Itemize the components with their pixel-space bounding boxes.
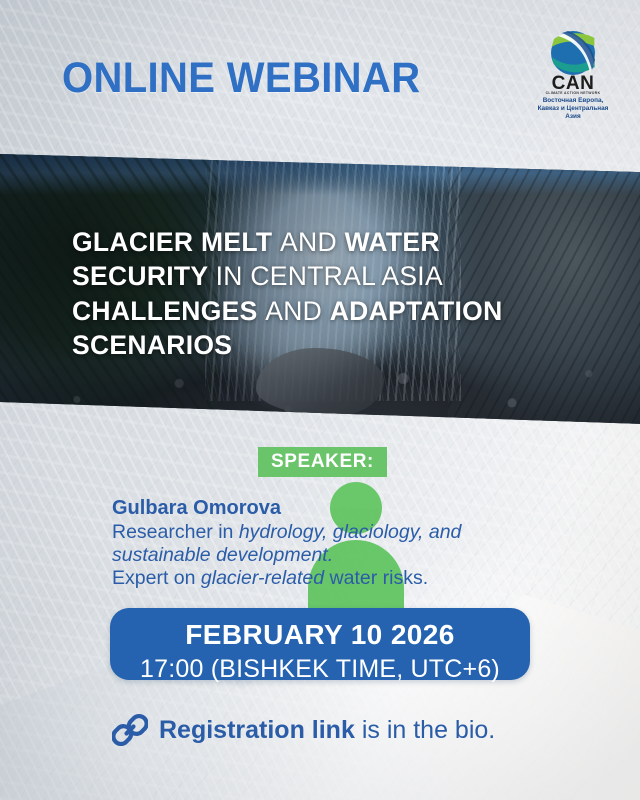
speaker-bio-line: sustainable development. xyxy=(112,544,542,567)
can-logo-region-line1: Восточная Европа, xyxy=(532,97,614,105)
webinar-poster: ONLINE WEBINAR CAN CLIMATE ACTION NETWOR… xyxy=(0,0,640,800)
registration-emphasis: Registration link xyxy=(159,716,355,744)
can-logo: CAN CLIMATE ACTION NETWORK Восточная Евр… xyxy=(536,30,610,108)
page-title: ONLINE WEBINAR xyxy=(62,54,420,103)
link-icon xyxy=(112,712,148,748)
speaker-bio-line: Expert on glacier-related water risks. xyxy=(112,567,542,590)
speaker-name: Gulbara Omorova xyxy=(112,497,542,520)
speaker-bio: Researcher in hydrology, glaciology, and… xyxy=(112,521,542,589)
registration-text: Registration link is in the bio. xyxy=(159,718,495,743)
registration-rest: is in the bio. xyxy=(355,716,495,744)
can-globe-icon xyxy=(550,30,596,76)
speaker-bio-line: Researcher in hydrology, glaciology, and xyxy=(112,521,542,544)
can-logo-region-line3: Азия xyxy=(532,113,614,121)
poster-header: ONLINE WEBINAR CAN CLIMATE ACTION NETWOR… xyxy=(0,0,640,130)
can-logo-region: Восточная Европа, Кавказ и Центральная А… xyxy=(532,97,614,120)
speaker-badge: SPEAKER: xyxy=(258,447,387,477)
event-time: 17:00 (BISHKEK TIME, UTC+6) xyxy=(110,649,530,682)
event-date: FEBRUARY 10 2026 xyxy=(110,608,530,649)
speaker-details: Gulbara Omorova Researcher in hydrology,… xyxy=(112,497,542,590)
can-logo-region-line2: Кавказ и Центральная xyxy=(532,105,614,113)
can-logo-tagline: CLIMATE ACTION NETWORK xyxy=(536,92,610,95)
event-datetime-box: FEBRUARY 10 2026 17:00 (BISHKEK TIME, UT… xyxy=(110,608,530,680)
hero-headline: GLACIER MELT AND WATER SECURITY IN CENTR… xyxy=(72,225,572,363)
registration-note[interactable]: Registration link is in the bio. xyxy=(112,707,572,753)
